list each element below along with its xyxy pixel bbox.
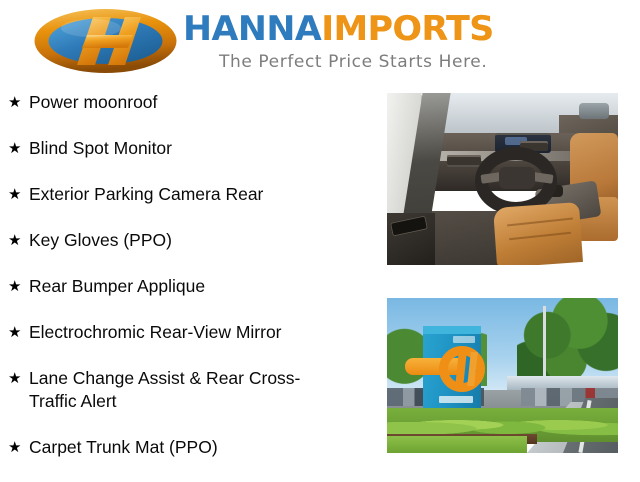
- brand-tagline: The Perfect Price Starts Here.: [219, 52, 487, 72]
- star-bullet-icon: ★: [8, 275, 29, 298]
- star-bullet-icon: ★: [8, 229, 29, 252]
- photo-steering-hub: [499, 167, 535, 189]
- list-item: ★ Electrochromic Rear-View Mirror: [0, 321, 380, 344]
- star-bullet-icon: ★: [8, 436, 29, 459]
- list-item-label: Carpet Trunk Mat (PPO): [29, 436, 218, 459]
- hanna-oval-h-logo-icon: [33, 8, 178, 74]
- photo-sign-cap: [423, 326, 481, 334]
- vehicle-feature-list: ★ Power moonroof ★ Blind Spot Monitor ★ …: [0, 91, 380, 482]
- star-bullet-icon: ★: [8, 91, 29, 114]
- list-item-label: Lane Change Assist & Rear Cross-Traffic …: [29, 367, 329, 413]
- photo-sign-street-number: [453, 336, 475, 343]
- list-item: ★ Power moonroof: [0, 91, 380, 114]
- page-header: HANNAIMPORTS The Perfect Price Starts He…: [0, 0, 640, 88]
- list-item-label: Blind Spot Monitor: [29, 137, 172, 160]
- list-item: ★ Key Gloves (PPO): [0, 229, 380, 252]
- photo-grass: [387, 436, 527, 453]
- list-item: ★ Rear Bumper Applique: [0, 275, 380, 298]
- list-item-label: Power moonroof: [29, 91, 157, 114]
- photo-air-vent: [447, 155, 481, 167]
- star-bullet-icon: ★: [8, 367, 29, 390]
- brand-wordmark: HANNAIMPORTS: [183, 12, 494, 46]
- dealership-sign-photo: [387, 298, 618, 453]
- list-item-label: Electrochromic Rear-View Mirror: [29, 321, 282, 344]
- star-bullet-icon: ★: [8, 137, 29, 160]
- list-item: ★ Exterior Parking Camera Rear: [0, 183, 380, 206]
- brand-wordmark-imports: IMPORTS: [321, 9, 494, 49]
- list-item: ★ Lane Change Assist & Rear Cross-Traffi…: [0, 367, 380, 413]
- list-item-label: Key Gloves (PPO): [29, 229, 172, 252]
- list-item-label: Exterior Parking Camera Rear: [29, 183, 263, 206]
- list-item: ★ Carpet Trunk Mat (PPO): [0, 436, 380, 459]
- photo-trees-right: [517, 298, 618, 388]
- list-item: ★ Blind Spot Monitor: [0, 137, 380, 160]
- star-bullet-icon: ★: [8, 183, 29, 206]
- photo-rearview-mirror: [579, 103, 609, 119]
- brand-wordmark-hanna: HANNA: [183, 9, 321, 49]
- list-item-label: Rear Bumper Applique: [29, 275, 205, 298]
- vehicle-interior-photo: [387, 93, 618, 265]
- star-bullet-icon: ★: [8, 321, 29, 344]
- photo-sign-hanna-text: [439, 396, 473, 403]
